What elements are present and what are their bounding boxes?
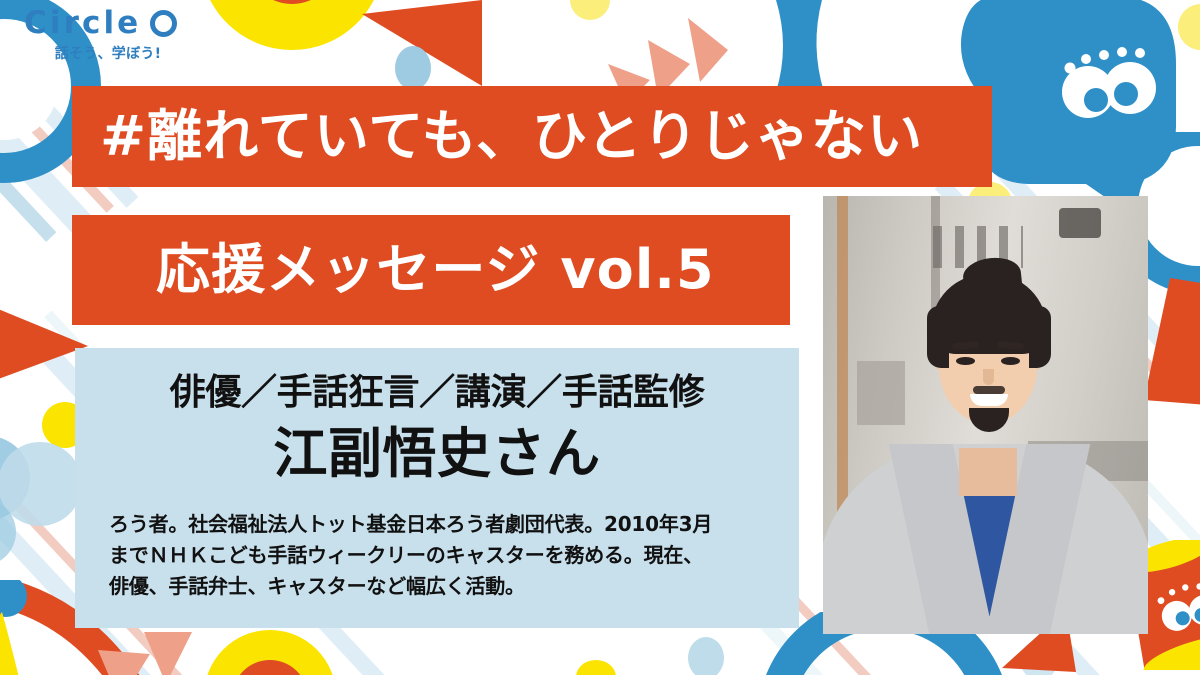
guest-name: 江副悟史さん xyxy=(109,424,765,483)
guest-bio-line: ろう者。社会福祉法人トット基金日本ろう者劇団代表。2010年3月 xyxy=(109,509,765,540)
portrait-mouth xyxy=(970,394,1008,406)
hashtag-title-banner: #離れていても、ひとりじゃない xyxy=(72,86,992,187)
portrait-neck xyxy=(959,448,1017,496)
guest-role: 俳優／手話狂言／講演／手話監修 xyxy=(109,374,765,412)
orange-quad-right xyxy=(1140,278,1200,428)
guest-portrait-photo xyxy=(823,196,1148,634)
portrait-eye-left xyxy=(956,357,975,365)
guest-bio-line: までＮＨＫこども手話ウィークリーのキャスターを務める。現在、 xyxy=(109,540,765,571)
guest-info-panel: 俳優／手話狂言／講演／手話監修 江副悟史さん ろう者。社会福祉法人トット基金日本… xyxy=(75,348,799,628)
portrait-nose xyxy=(983,369,994,385)
yellow-wedge-left xyxy=(0,612,36,675)
brand-logo[interactable]: Circle 話そう、学ぼう! xyxy=(24,8,192,66)
photo-background-pipe xyxy=(837,196,848,526)
logo-tagline: 話そう、学ぼう! xyxy=(24,43,192,63)
series-title-banner: 応援メッセージ vol.5 xyxy=(72,215,790,325)
poster-canvas: Circle 話そう、学ぼう! #離れていても、ひとりじゃない 応援メッセージ … xyxy=(0,0,1200,675)
series-title-text: 応援メッセージ vol.5 xyxy=(156,243,715,297)
logo-wordmark: Circle xyxy=(24,8,192,39)
portrait-hair-side-right xyxy=(1029,306,1051,368)
yellow-circle-bottom xyxy=(200,630,350,675)
blue-ribbon-top xyxy=(770,0,830,95)
guest-bio-line: 俳優、手話弁士、キャスターなど幅広く活動。 xyxy=(109,571,765,602)
orange-triangle-top-center xyxy=(362,0,482,90)
hashtag-title-text: #離れていても、ひとりじゃない xyxy=(100,109,923,164)
photo-background-box xyxy=(857,361,905,425)
logo-ring-o-icon xyxy=(150,10,177,37)
portrait-hair-side-left xyxy=(927,306,949,368)
photo-background-fixture xyxy=(1059,208,1101,238)
portrait-eye-right xyxy=(1001,357,1020,365)
portrait-moustache xyxy=(973,386,1005,394)
guest-bio: ろう者。社会福祉法人トット基金日本ろう者劇団代表。2010年3月 までＮＨＫこど… xyxy=(109,509,765,602)
logo-text: Circle xyxy=(24,8,141,39)
